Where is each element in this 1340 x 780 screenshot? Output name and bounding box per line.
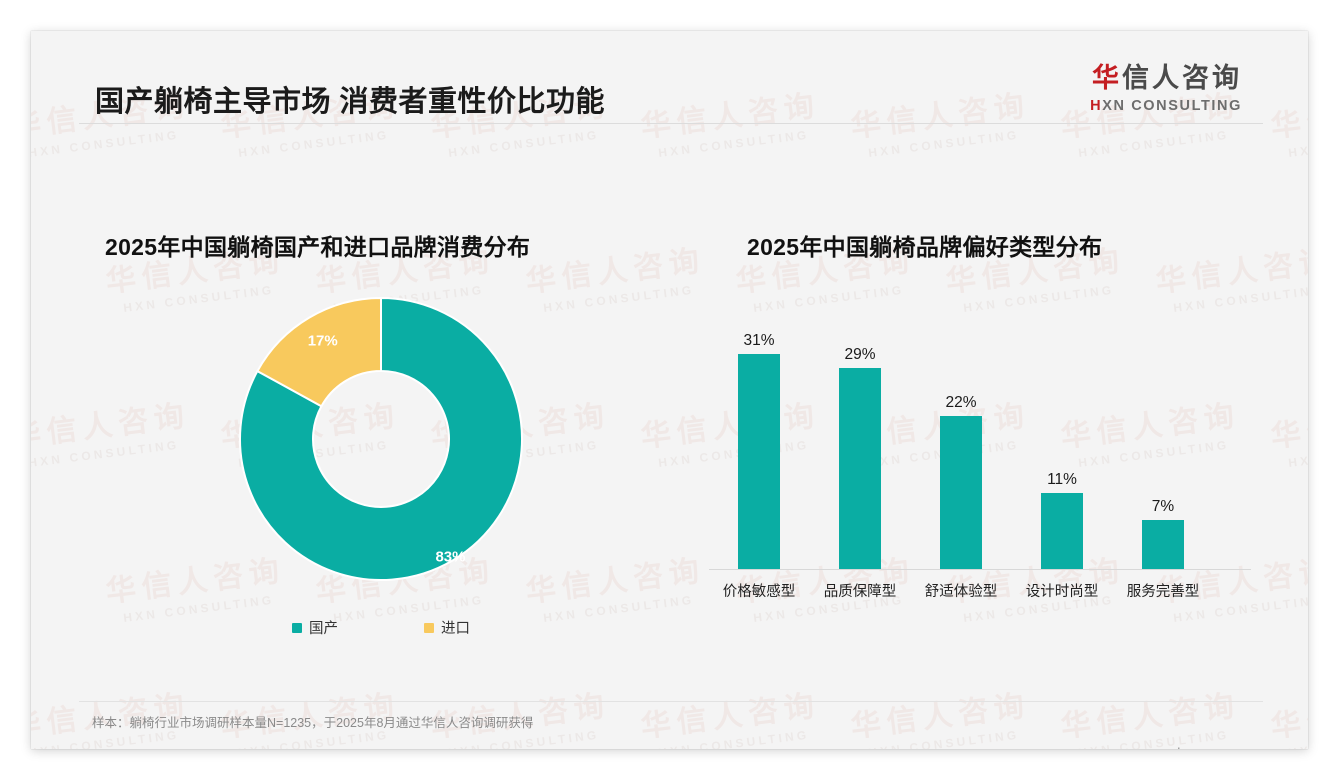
bar-value-label: 7% <box>1113 499 1213 515</box>
bar-category-label: 舒适体验型 <box>911 580 1011 601</box>
bar-value-label: 29% <box>810 347 910 363</box>
footer-copyright: ©2025.10 HXR华信人咨询 <box>92 746 239 749</box>
bar-value-label: 11% <box>1012 472 1112 488</box>
bar-chart: 31%29%22%11%7% 价格敏感型品质保障型舒适体验型设计时尚型服务完善型 <box>691 293 1251 609</box>
bar-chart-baseline <box>709 569 1251 570</box>
legend-swatch-icon <box>292 623 302 633</box>
logo-english: HXN CONSULTING <box>1090 99 1242 114</box>
logo-chinese-accent: 华 <box>1092 63 1122 93</box>
footer-website[interactable]: www.hxrcon.com <box>1148 746 1242 749</box>
bar-value-label: 22% <box>911 395 1011 411</box>
pie-chart-legend: 国产进口 <box>210 617 552 638</box>
bar-rect-品质保障型[interactable] <box>839 368 881 569</box>
pie-chart-title: 2025年中国躺椅国产和进口品牌消费分布 <box>105 228 530 262</box>
bar-chart-plot: 31%29%22%11%7% <box>691 293 1251 569</box>
bar-rect-价格敏感型[interactable] <box>738 354 780 569</box>
header-divider <box>79 123 1263 124</box>
bar-column: 7% <box>1113 499 1213 570</box>
bar-category-label: 品质保障型 <box>810 580 910 601</box>
donut-slice-label: 83% <box>435 548 465 565</box>
logo-chinese-rest: 信人咨询 <box>1122 63 1242 93</box>
legend-swatch-icon <box>424 623 434 633</box>
logo-english-accent: H <box>1090 98 1102 114</box>
source-note: 样本：躺椅行业市场调研样本量N=1235，于2025年8月通过华信人咨询调研获得 <box>92 712 533 731</box>
logo-chinese: 华信人咨询 <box>1090 65 1242 92</box>
bar-column: 11% <box>1012 472 1112 570</box>
charts-region: 2025年中国躺椅国产和进口品牌消费分布 83%17% 国产进口 2025年中国… <box>31 31 1308 749</box>
bar-rect-设计时尚型[interactable] <box>1041 493 1083 569</box>
legend-label: 国产 <box>309 617 338 638</box>
bar-category-label: 服务完善型 <box>1113 580 1213 601</box>
logo-english-rest: XN CONSULTING <box>1102 98 1242 114</box>
bar-rect-服务完善型[interactable] <box>1142 520 1184 569</box>
slide-footer: ©2025.10 HXR华信人咨询 www.hxrcon.com <box>31 736 1308 749</box>
bar-column: 31% <box>709 333 809 570</box>
bar-category-label: 设计时尚型 <box>1012 580 1112 601</box>
slide-header: 国产躺椅主导市场 消费者重性价比功能 华信人咨询 HXN CONSULTING <box>31 31 1308 123</box>
brand-logo: 华信人咨询 HXN CONSULTING <box>1090 65 1242 114</box>
donut-chart: 83%17% <box>210 268 552 610</box>
screenshot-canvas: 华信人咨询HXN CONSULTING华信人咨询HXN CONSULTING华信… <box>0 0 1340 780</box>
legend-item-国产[interactable]: 国产 <box>292 617 338 638</box>
bar-chart-category-labels: 价格敏感型品质保障型舒适体验型设计时尚型服务完善型 <box>691 580 1251 608</box>
bar-column: 29% <box>810 347 910 570</box>
presentation-slide: 华信人咨询HXN CONSULTING华信人咨询HXN CONSULTING华信… <box>31 31 1308 749</box>
footer-divider <box>79 701 1263 702</box>
legend-label: 进口 <box>441 617 470 638</box>
bar-column: 22% <box>911 395 1011 570</box>
bar-value-label: 31% <box>709 333 809 349</box>
bar-rect-舒适体验型[interactable] <box>940 416 982 569</box>
donut-chart-svg: 83%17% <box>210 268 552 610</box>
donut-slice-label: 17% <box>308 332 338 349</box>
legend-item-进口[interactable]: 进口 <box>424 617 470 638</box>
page-title: 国产躺椅主导市场 消费者重性价比功能 <box>95 78 605 120</box>
bar-chart-title: 2025年中国躺椅品牌偏好类型分布 <box>747 228 1102 262</box>
bar-category-label: 价格敏感型 <box>709 580 809 601</box>
